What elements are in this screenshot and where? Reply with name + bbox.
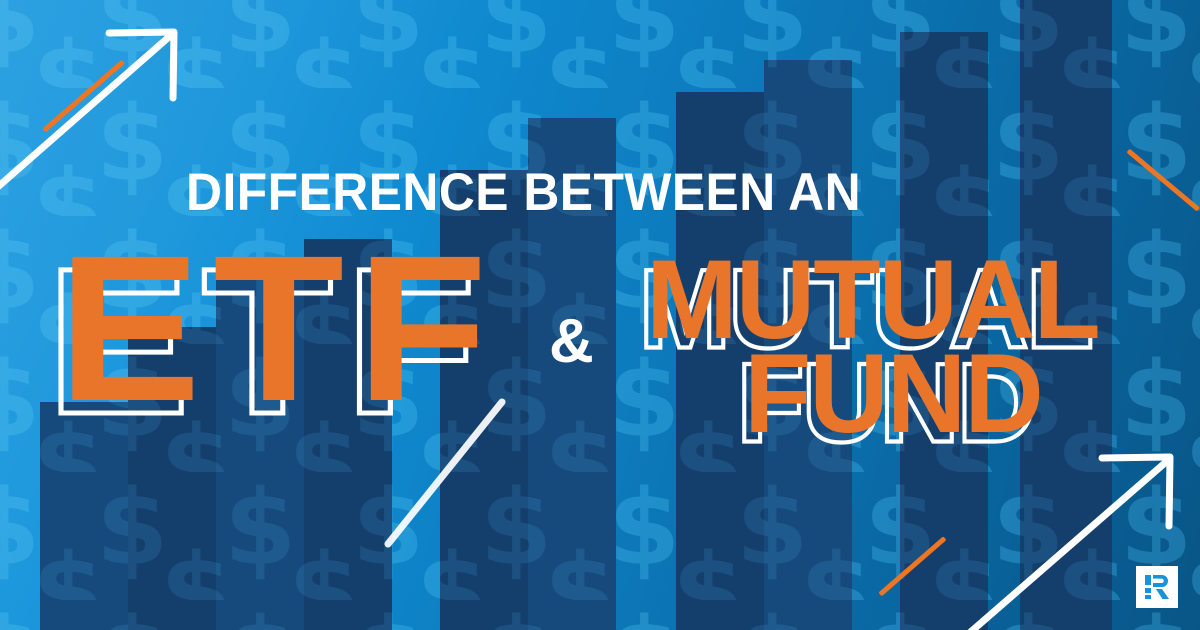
headline-eyebrow: DIFFERENCE BETWEEN AN [186, 166, 861, 219]
term-etf: ETF ETF [58, 244, 500, 415]
term-fund: FUND FUND [744, 348, 1042, 440]
poster-canvas: $ $ $ $ $ [0, 0, 1200, 630]
term-fund-fill: FUND [744, 330, 1042, 456]
ampersand: & [549, 311, 594, 373]
term-etf-fill: ETF [58, 213, 500, 445]
ramsey-r-logo-icon [1136, 566, 1178, 608]
